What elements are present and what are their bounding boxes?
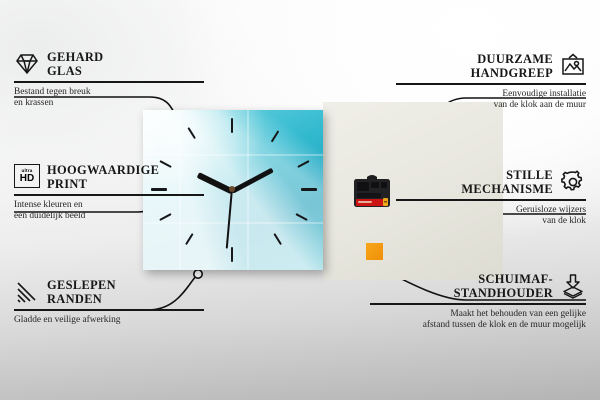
feature-geslepen-randen: GESLEPEN RANDEN Gladde en veilige afwerk… [14,278,204,326]
press-down-pad-icon [560,273,586,299]
feature-title-line1: GEHARD [47,50,104,64]
feature-gehard-glas: GEHARD GLAS Bestand tegen breuk en krass… [14,50,204,110]
feature-title-line2: GLAS [47,64,82,78]
feature-subtitle-line1: Maakt het behouden van een gelijke [450,309,586,319]
feature-title-line1: STILLE [506,168,553,182]
title-rule [14,194,204,196]
title-rule [396,199,586,201]
ultra-hd-icon: ultra HD [14,164,40,190]
feature-schuimafstandhouder: SCHUIMAF- STANDHOUDER Maakt het behouden… [370,272,586,332]
feature-hoogwaardige-print: ultra HD HOOGWAARDIGE PRINT Intense kleu… [14,163,204,223]
infographic-canvas: GEHARD GLAS Bestand tegen breuk en krass… [0,0,600,400]
feature-subtitle-line2: een duidelijk beeld [14,211,85,221]
feature-title-line1: HOOGWAARDIGE [47,163,159,177]
title-rule [14,81,204,83]
feature-subtitle-line1: Bestand tegen breuk [14,87,91,97]
framed-picture-icon [560,53,586,79]
feature-duurzame-handgreep: DUURZAME HANDGREEP Eenvoudige installati… [396,52,586,112]
feature-title-line2: HANDGREEP [471,66,553,80]
feature-title-line2: STANDHOUDER [454,286,553,300]
feature-title-line1: GESLEPEN [47,278,116,292]
diagonal-lines-icon [14,279,40,305]
feature-subtitle-line1: Gladde en veilige afwerking [14,315,120,325]
feature-title-line1: SCHUIMAF- [478,272,553,286]
title-rule [370,303,586,305]
feature-title-line2: RANDEN [47,292,102,306]
feature-title-line1: DUURZAME [477,52,553,66]
title-rule [396,83,586,85]
feature-title-line2: PRINT [47,177,87,191]
feature-subtitle-line2: en krassen [14,98,53,108]
diamond-icon [14,51,40,77]
feature-stille-mechanisme: STILLE MECHANISME Geruisloze wijzers van… [396,168,586,228]
foam-spacer [366,243,383,260]
feature-subtitle-line2: van de klok aan de muur [494,100,586,110]
feature-title-line2: MECHANISME [461,182,553,196]
title-rule [14,309,204,311]
feature-subtitle-line1: Intense kleuren en [14,200,83,210]
feature-subtitle-line2: van de klok [542,216,586,226]
feature-subtitle-line1: Eenvoudige installatie [502,89,586,99]
connector-dot-geslepen-randen [194,270,202,278]
feature-subtitle-line2: afstand tussen de klok en de muur mogeli… [423,320,586,330]
ultra-hd-large-text: HD [20,174,34,184]
gear-icon [560,169,586,195]
feature-subtitle-line1: Geruisloze wijzers [516,205,586,215]
clock-mechanism-unit [350,172,394,212]
